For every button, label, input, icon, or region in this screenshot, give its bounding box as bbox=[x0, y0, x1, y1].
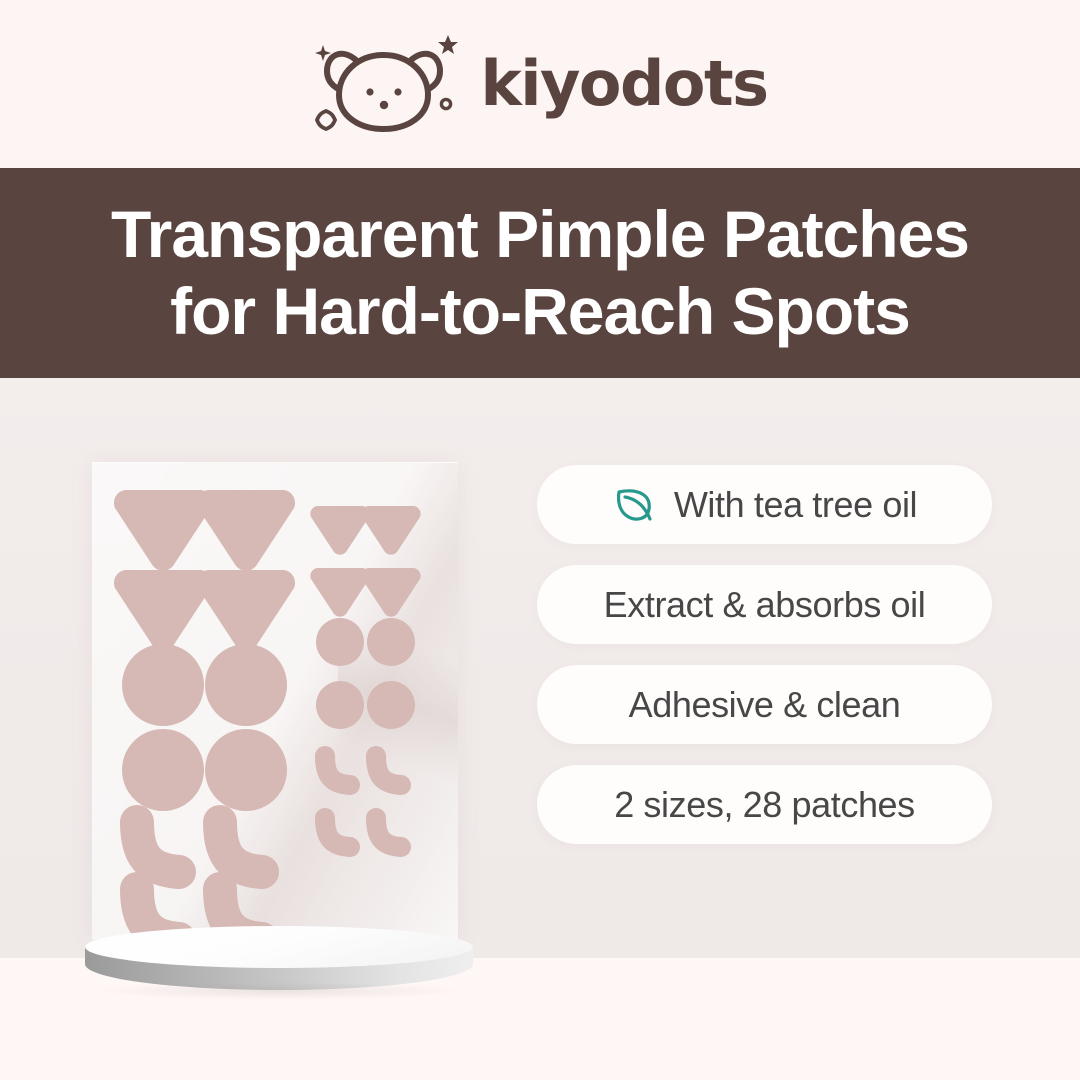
leaf-icon bbox=[612, 483, 656, 527]
product-visual bbox=[85, 440, 485, 1010]
headline-line-1: Transparent Pimple Patches bbox=[111, 196, 969, 273]
feature-label: Adhesive & clean bbox=[629, 687, 901, 723]
podium-shadow bbox=[93, 982, 465, 1000]
podium-top bbox=[85, 926, 473, 968]
feature-label: With tea tree oil bbox=[674, 487, 917, 523]
feature-pill-sizes-count[interactable]: 2 sizes, 28 patches bbox=[537, 765, 992, 844]
headline-line-2: for Hard-to-Reach Spots bbox=[170, 273, 910, 350]
headline-banner: Transparent Pimple Patches for Hard-to-R… bbox=[0, 168, 1080, 378]
product-podium bbox=[85, 926, 475, 998]
feature-label: Extract & absorbs oil bbox=[604, 587, 926, 623]
feature-pill-extract-absorbs-oil[interactable]: Extract & absorbs oil bbox=[537, 565, 992, 644]
feature-label: 2 sizes, 28 patches bbox=[614, 787, 915, 823]
bear-face-icon bbox=[312, 29, 462, 139]
patch-grid bbox=[85, 462, 465, 940]
feature-pill-adhesive-clean[interactable]: Adhesive & clean bbox=[537, 665, 992, 744]
feature-pill-tea-tree-oil[interactable]: With tea tree oil bbox=[537, 465, 992, 544]
feature-list: With tea tree oil Extract & absorbs oil … bbox=[537, 465, 992, 865]
brand-header: kiyodots bbox=[0, 0, 1080, 168]
brand-wordmark: kiyodots bbox=[480, 53, 767, 115]
